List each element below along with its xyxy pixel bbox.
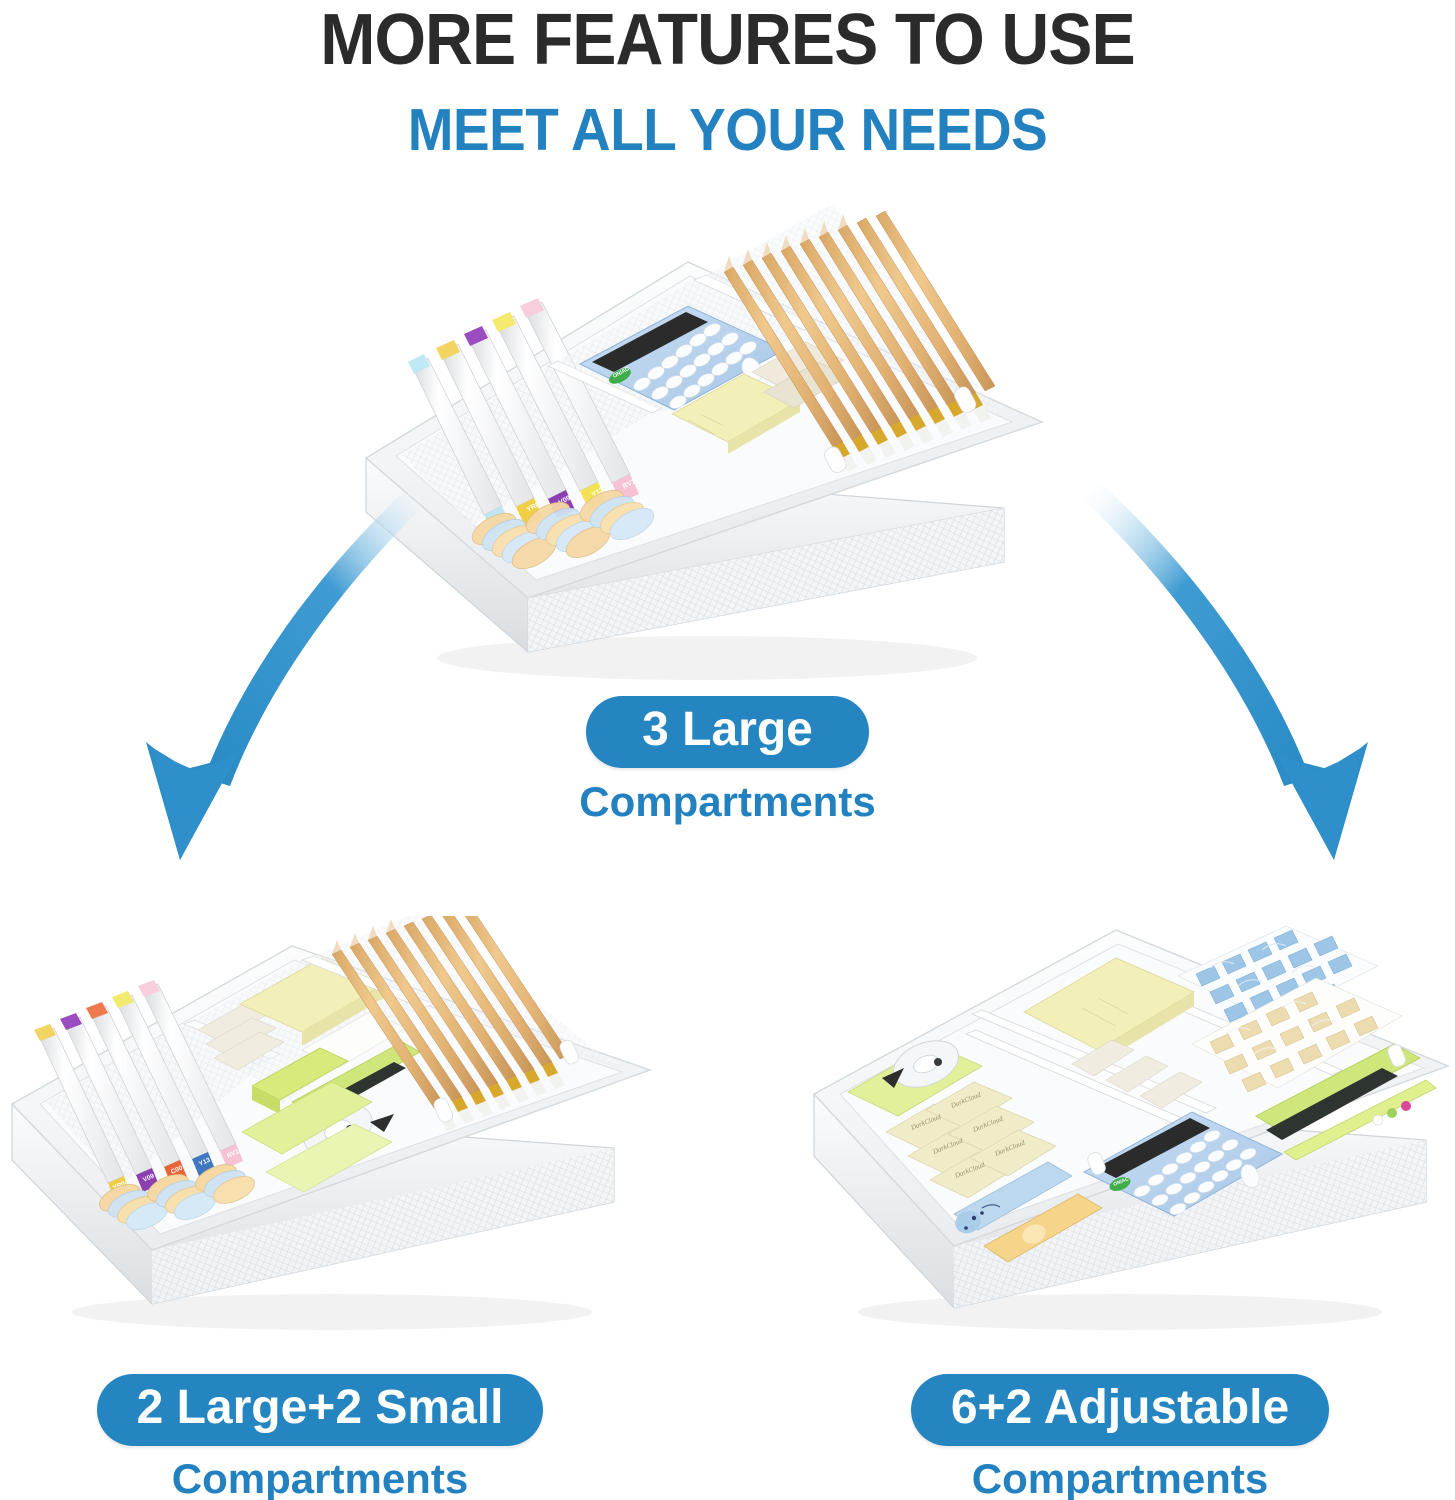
product-photo-left-organizer: YR04 V09 C00 Y13 RV11 <box>2 916 667 1341</box>
badge-pill-top: 3 Large <box>586 696 869 768</box>
badge-pill-right: 6+2 Adjustable <box>911 1374 1329 1446</box>
badge-left-organizer: 2 Large+2 Small Compartments <box>0 1374 640 1500</box>
badge-caption-left: Compartments <box>0 1451 640 1500</box>
badge-caption-right: Compartments <box>800 1451 1440 1500</box>
badge-right-organizer: 6+2 Adjustable Compartments <box>800 1374 1440 1500</box>
product-photo-top-organizer: YR04 V09 Y13 RV11 <box>352 206 1062 696</box>
badge-caption-top: Compartments <box>0 774 1455 830</box>
badge-pill-left: 2 Large+2 Small <box>97 1374 544 1446</box>
badge-top-organizer: 3 Large Compartments <box>0 696 1455 830</box>
page-subtitle: MEET ALL YOUR NEEDS <box>51 98 1404 162</box>
product-photo-right-organizer: DarkCloud DarkCloud DarkCloud DarkCloud … <box>786 916 1454 1341</box>
infographic-page: MORE FEATURES TO USE MEET ALL YOUR NEEDS <box>0 0 1455 1500</box>
page-title: MORE FEATURES TO USE <box>58 2 1397 78</box>
